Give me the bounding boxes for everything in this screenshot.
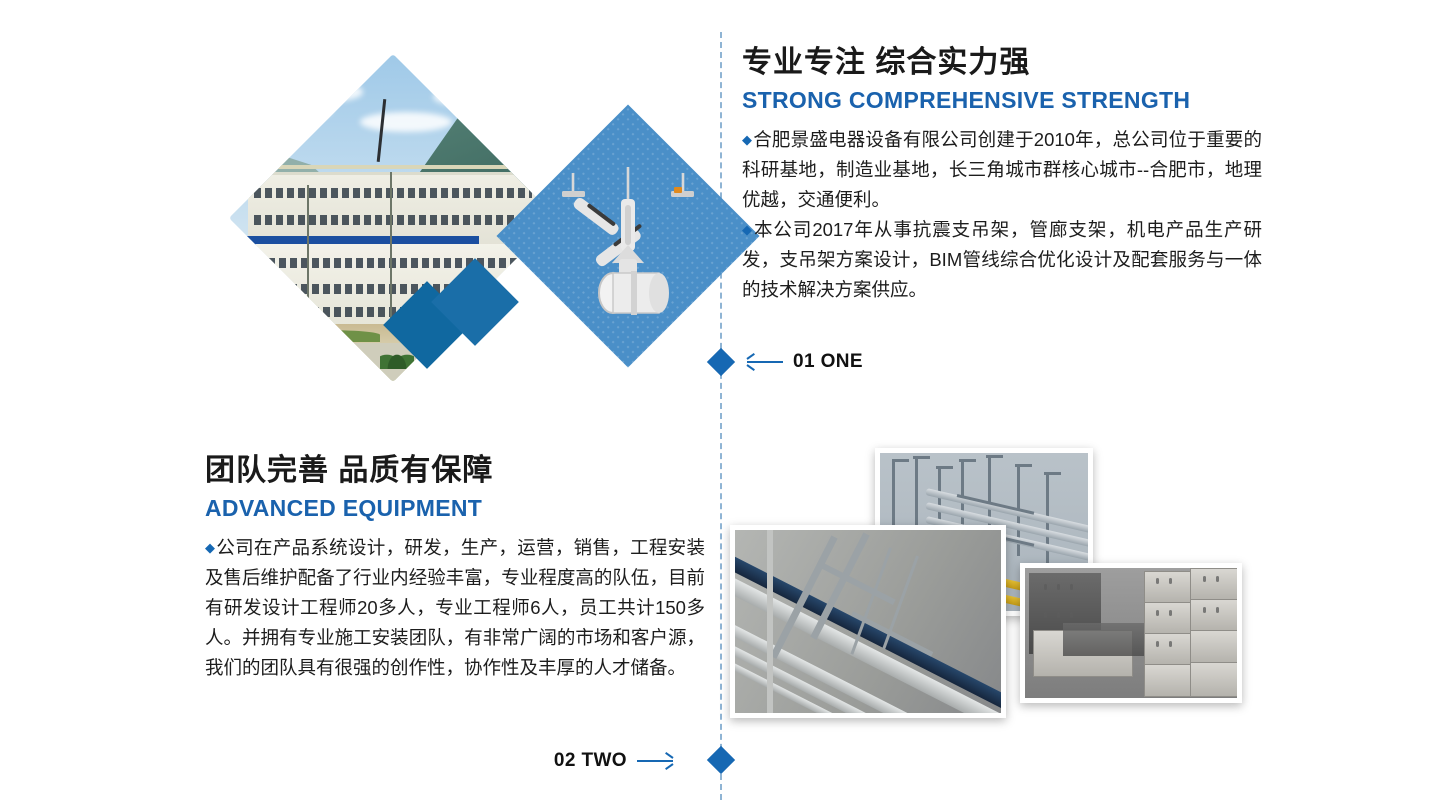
section-two-text-block: 团队完善 品质有保障 ADVANCED EQUIPMENT ◆公司在产品系统设计… — [205, 452, 705, 683]
cable-tray-stack-photo — [1020, 563, 1242, 703]
section-two-paragraph-1: ◆公司在产品系统设计，研发，生产，运营，销售，工程安装及售后维护配备了行业内经验… — [205, 533, 705, 683]
company-introduction-page: 专业专注 综合实力强 STRONG COMPREHENSIVE STRENGTH… — [0, 0, 1440, 800]
section-two-title-en: ADVANCED EQUIPMENT — [205, 494, 705, 524]
diamond-image-collage — [190, 18, 730, 408]
bullet-diamond-icon: ◆ — [742, 222, 753, 237]
installed-pipework-photo — [730, 525, 1006, 718]
section-one-paragraph-2: ◆本公司2017年从事抗震支吊架，管廊支架，机电产品生产研发，支吊架方案设计，B… — [742, 215, 1262, 305]
section-one-text-block: 专业专注 综合实力强 STRONG COMPREHENSIVE STRENGTH… — [742, 44, 1262, 305]
photo-collage — [730, 420, 1250, 730]
section-one-paragraph-1-text: 合肥景盛电器设备有限公司创建于2010年，总公司位于重要的科研基地，制造业基地，… — [742, 129, 1262, 210]
marker-02-two: 02 TWO — [554, 750, 673, 772]
marker-01-label: 01 ONE — [793, 351, 863, 373]
section-one-paragraph-1: ◆合肥景盛电器设备有限公司创建于2010年，总公司位于重要的科研基地，制造业基地… — [742, 125, 1262, 215]
timeline-diamond-two-icon — [707, 746, 735, 774]
bullet-diamond-icon: ◆ — [205, 540, 215, 555]
section-two-title-cn: 团队完善 品质有保障 — [205, 452, 705, 490]
seismic-brace-product-photo — [496, 104, 759, 367]
marker-02-label: 02 TWO — [554, 750, 627, 772]
arrow-right-icon — [637, 760, 673, 762]
section-one-paragraph-2-text: 本公司2017年从事抗震支吊架，管廊支架，机电产品生产研发，支吊架方案设计，BI… — [742, 219, 1262, 300]
arrow-left-icon — [747, 361, 783, 363]
section-two-paragraph-1-text: 公司在产品系统设计，研发，生产，运营，销售，工程安装及售后维护配备了行业内经验丰… — [205, 537, 705, 678]
bullet-diamond-icon: ◆ — [742, 132, 752, 147]
seismic-brace-icon — [533, 141, 723, 331]
section-one-title-cn: 专业专注 综合实力强 — [742, 44, 1262, 82]
section-one-title-en: STRONG COMPREHENSIVE STRENGTH — [742, 86, 1262, 116]
marker-01-one: 01 ONE — [747, 351, 863, 373]
